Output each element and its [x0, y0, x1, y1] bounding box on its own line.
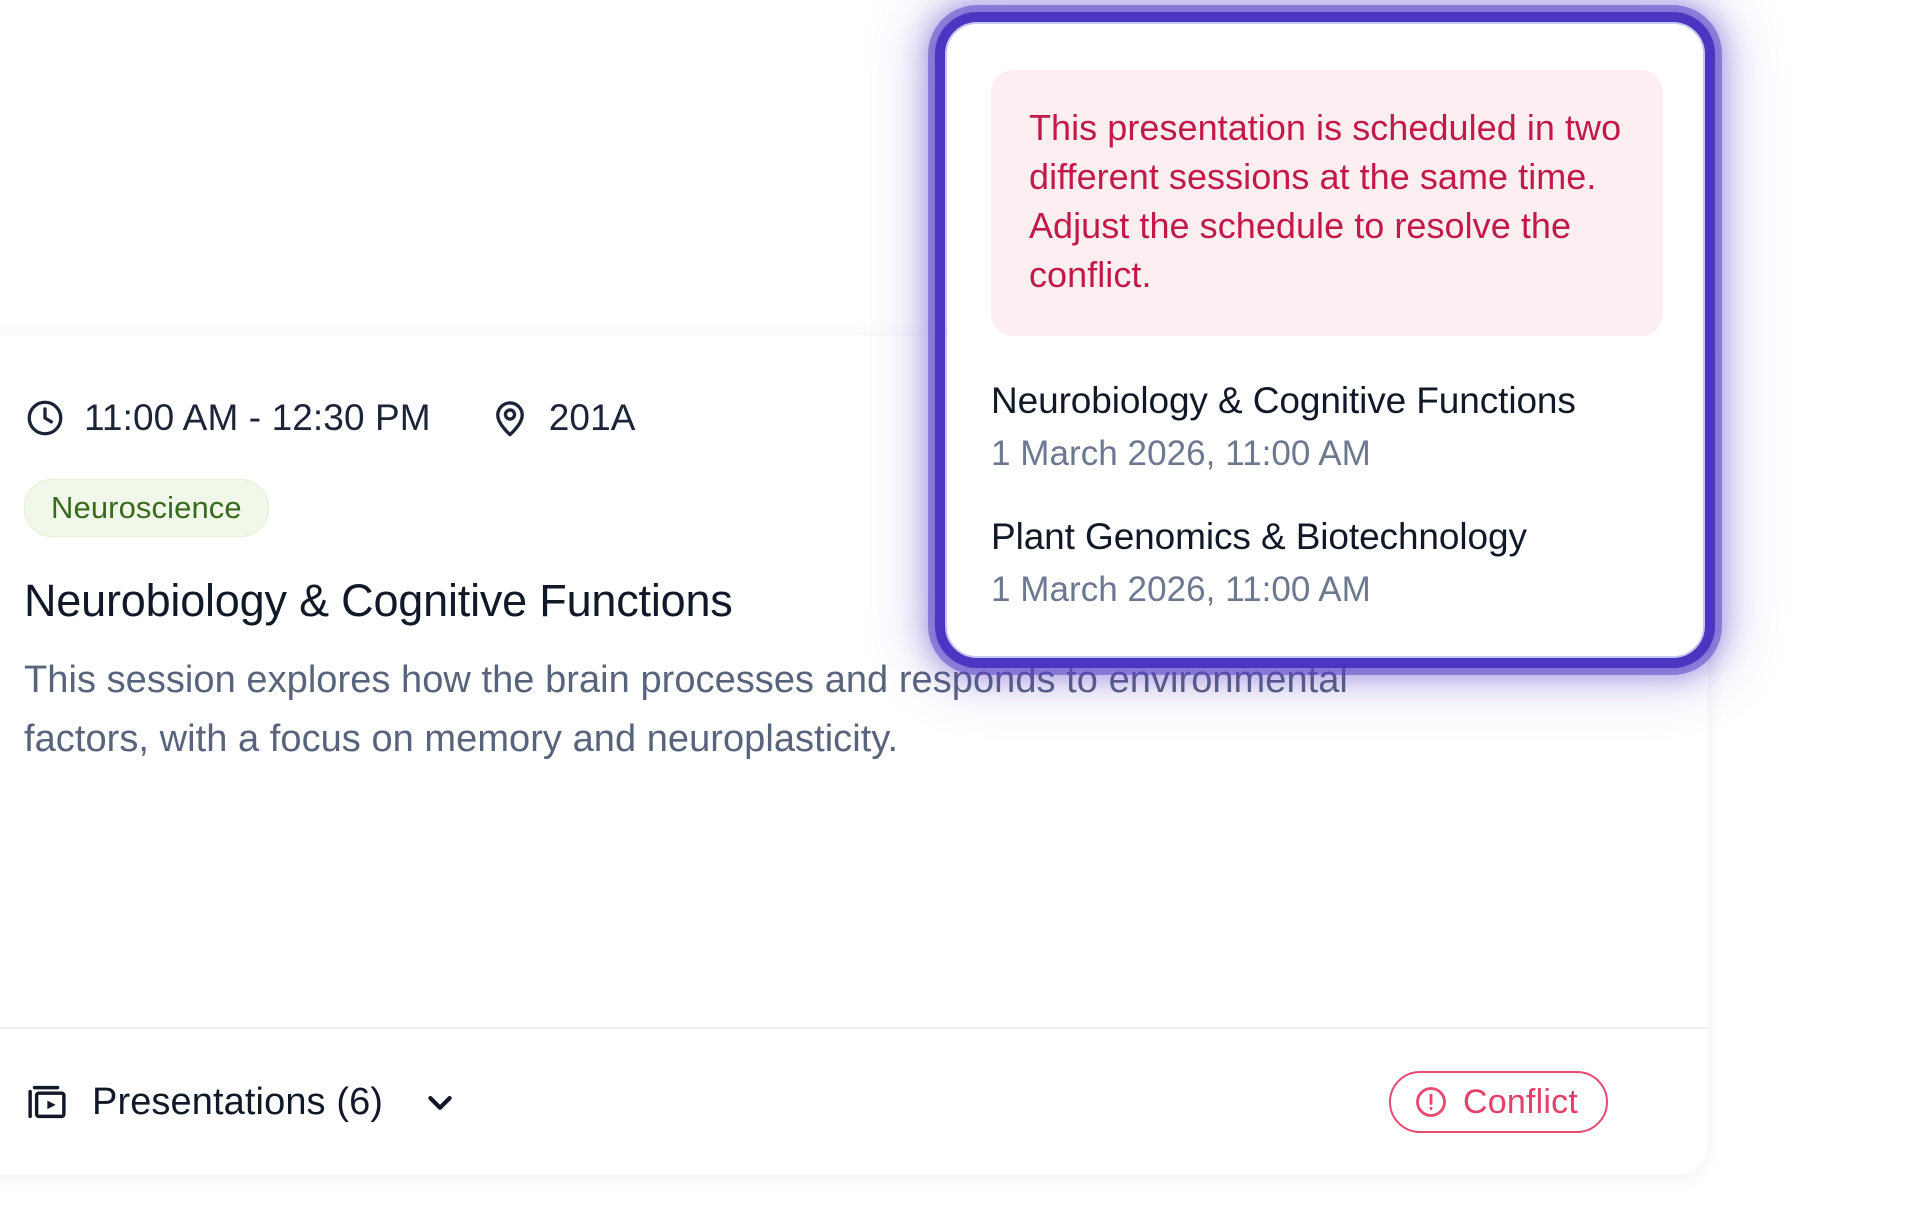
conflict-badge[interactable]: Conflict [1389, 1071, 1608, 1133]
topic-chip[interactable]: Neuroscience [24, 479, 269, 537]
slideshow-icon [24, 1079, 70, 1125]
conflict-popup: This presentation is scheduled in two di… [945, 22, 1705, 658]
presentations-toggle[interactable]: Presentations (6) [24, 1079, 461, 1125]
conflict-entry[interactable]: Plant Genomics & Biotechnology 1 March 2… [991, 516, 1663, 610]
session-card-footer: Presentations (6) Conflict [0, 1027, 1708, 1175]
session-location: 201A [489, 397, 636, 439]
conflict-entry-title: Neurobiology & Cognitive Functions [991, 380, 1663, 422]
conflict-entry[interactable]: Neurobiology & Cognitive Functions 1 Mar… [991, 380, 1663, 474]
conflict-badge-label: Conflict [1463, 1083, 1578, 1122]
map-pin-icon [489, 397, 531, 439]
conflict-entry-title: Plant Genomics & Biotechnology [991, 516, 1663, 558]
session-time: 11:00 AM - 12:30 PM [24, 397, 431, 439]
alert-circle-icon [1413, 1084, 1449, 1120]
session-description: This session explores how the brain proc… [24, 651, 1444, 769]
screenshot-stage: 11:00 AM - 12:30 PM 201A Neuroscience [0, 0, 1920, 1205]
chevron-down-icon[interactable] [419, 1081, 461, 1123]
conflict-entry-list: Neurobiology & Cognitive Functions 1 Mar… [991, 380, 1663, 610]
conflict-alert-message: This presentation is scheduled in two di… [1029, 104, 1629, 300]
presentations-label: Presentations (6) [92, 1081, 383, 1124]
session-location-text: 201A [549, 397, 636, 439]
conflict-alert-box: This presentation is scheduled in two di… [991, 70, 1663, 336]
session-time-text: 11:00 AM - 12:30 PM [84, 397, 431, 439]
conflict-entry-time: 1 March 2026, 11:00 AM [991, 434, 1663, 474]
conflict-entry-time: 1 March 2026, 11:00 AM [991, 570, 1663, 610]
clock-icon [24, 397, 66, 439]
